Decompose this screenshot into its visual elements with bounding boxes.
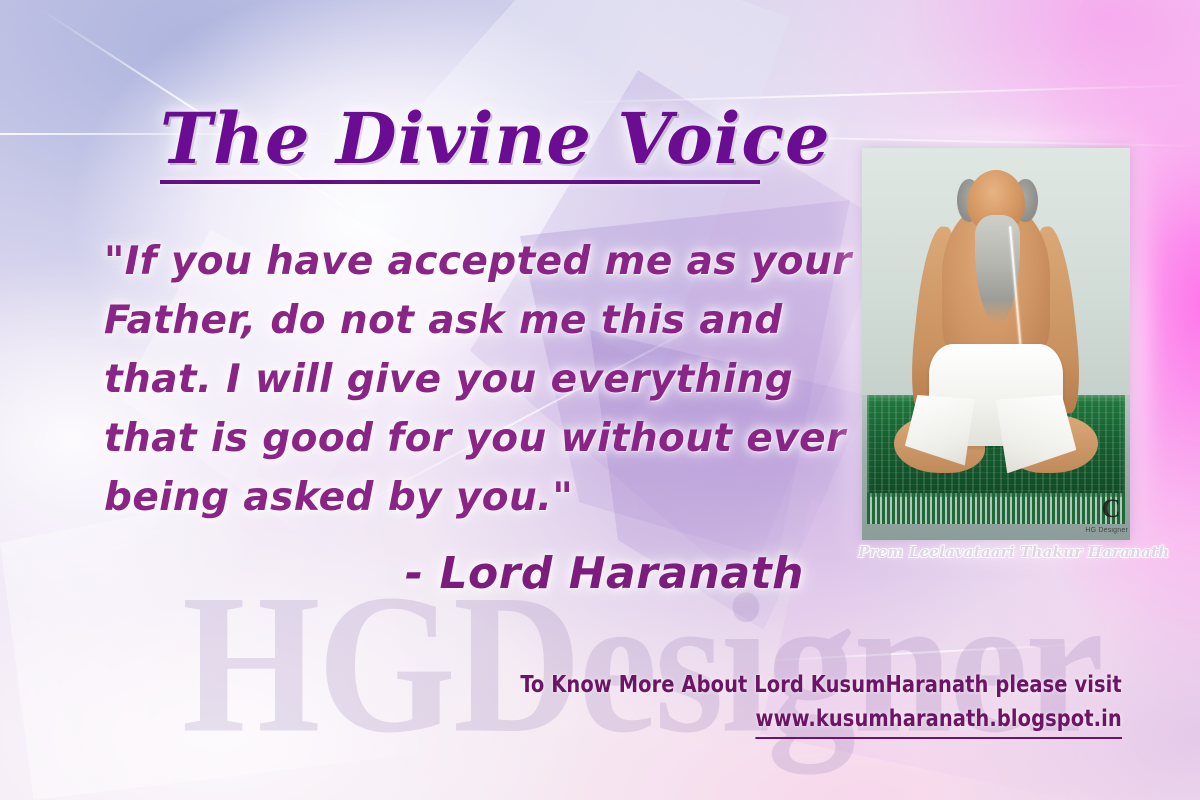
page-title: The Divine Voice [160, 104, 760, 184]
divine-voice-poster: HGDesigner The Divine Voice "If you have… [0, 0, 1200, 800]
quote-line: that. I will give you everything [104, 350, 804, 409]
footer-visit-text: To Know More About Lord KusumHaranath pl… [521, 668, 1122, 702]
quote-attribution: - Lord Haranath [104, 548, 804, 599]
quote-line: being asked by you." [104, 468, 804, 527]
photo-caption: Prem Leelavataari Thakur Haranath [858, 543, 1136, 561]
quote-block: "If you have accepted me as your Father,… [104, 232, 804, 527]
footer-block: To Know More About Lord KusumHaranath pl… [482, 668, 1122, 739]
blog-url-link[interactable]: www.kusumharanath.blogspot.in [756, 702, 1122, 739]
photo-mat-fringe [867, 493, 1124, 524]
quote-line: "If you have accepted me as your [104, 232, 804, 291]
page-title-text: The Divine Voice [160, 104, 760, 174]
photo-designer-logo-icon: C [1098, 496, 1124, 522]
title-underline-rule [160, 180, 760, 184]
quote-line: Father, do not ask me this and [104, 291, 804, 350]
quote-line: that is good for you without ever [104, 409, 804, 468]
footer-url-row: www.kusumharanath.blogspot.in [521, 702, 1122, 739]
background-light-streak [760, 643, 1090, 662]
saint-photo-container: C HG Designer [862, 148, 1130, 540]
photo-designer-logo-text: HG Designer [1085, 527, 1128, 534]
saint-photo: C HG Designer [862, 148, 1130, 540]
